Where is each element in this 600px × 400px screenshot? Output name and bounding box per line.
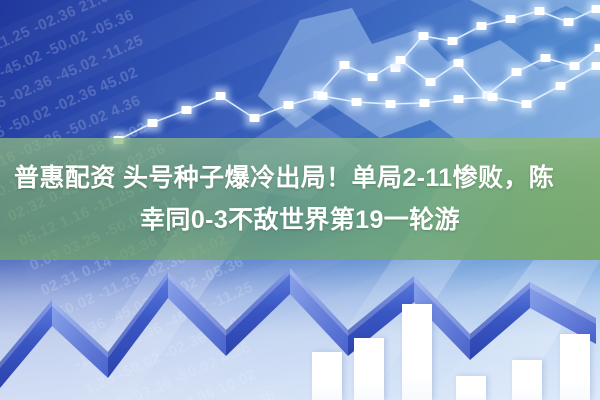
chart-bar (354, 338, 384, 400)
chart-bar (512, 360, 542, 400)
chart-bar (560, 334, 590, 400)
headline-block: 普惠配资 头号种子爆冷出局！单局2-11惨败，陈 幸同0-3不敌世界第19一轮游 (0, 138, 600, 260)
banner-image: -50.02 -11.25 -02.36 21.02-03.36 -45.02 … (0, 0, 600, 400)
chart-bar (456, 376, 486, 400)
headline-line-2: 幸同0-3不敌世界第19一轮游 (140, 200, 460, 240)
chart-bar (312, 352, 342, 400)
chart-bar (402, 304, 432, 400)
headline-line-1: 普惠配资 头号种子爆冷出局！单局2-11惨败，陈 (0, 158, 554, 198)
